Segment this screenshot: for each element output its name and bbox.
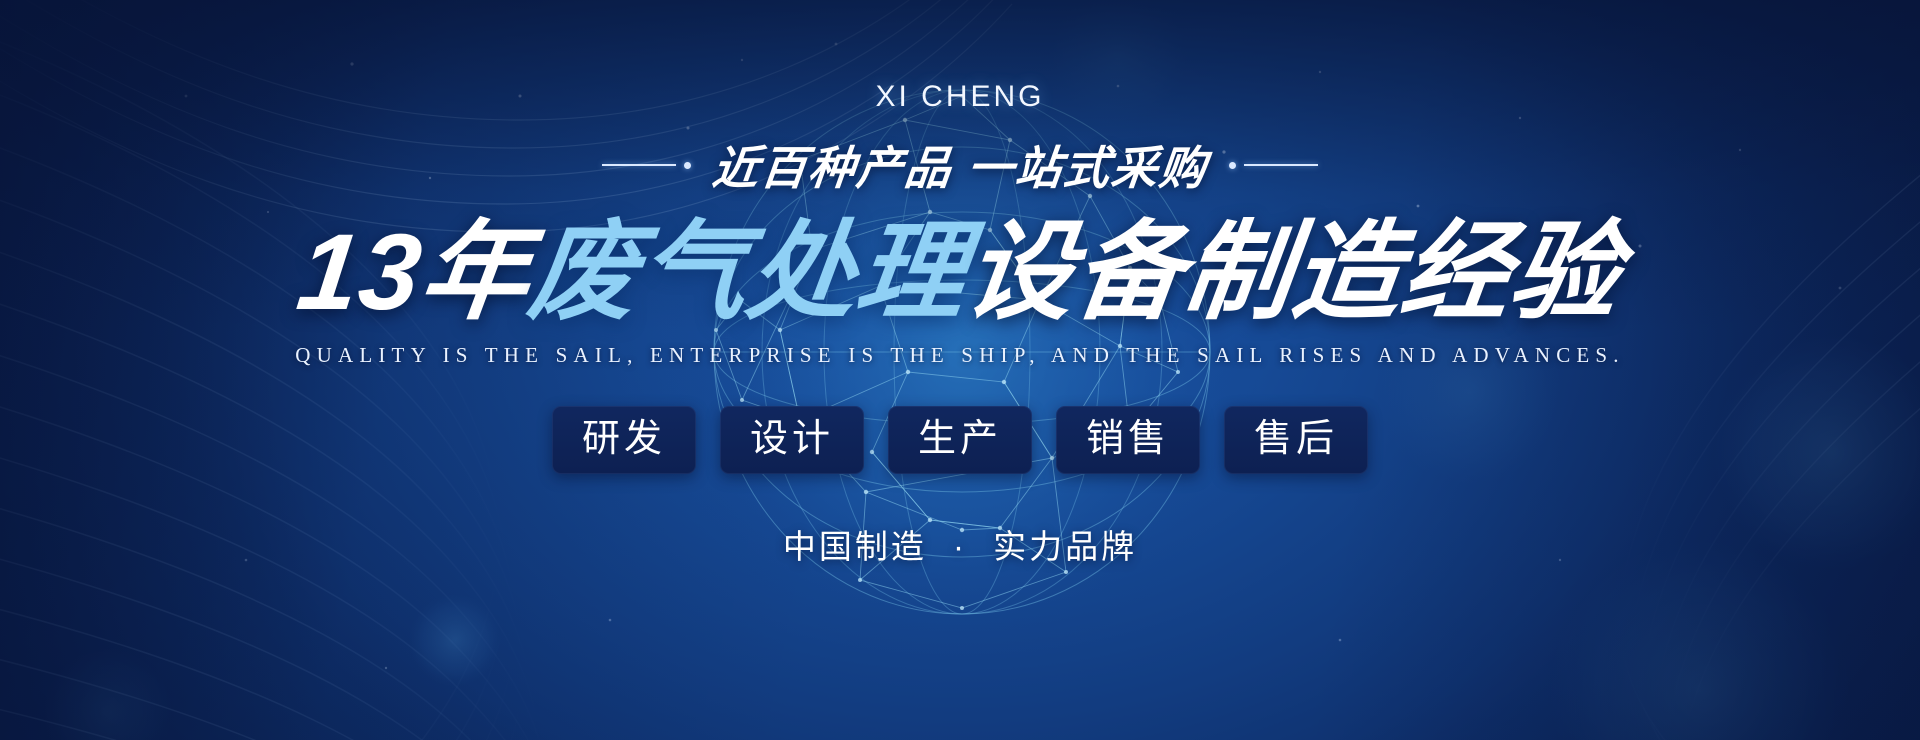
- decorative-line-icon: [602, 164, 676, 166]
- footer-slogan-right: 实力品牌: [993, 528, 1137, 565]
- service-pill-list: 研发 设计 生产 销售 售后: [552, 406, 1368, 475]
- decorative-rule-right: [1229, 162, 1318, 169]
- brand-name-en: XI CHENG: [875, 80, 1044, 114]
- decorative-rule-left: [602, 162, 691, 169]
- banner-headline: 13年废气处理设备制造经验: [292, 214, 1627, 331]
- service-pill[interactable]: 设计: [720, 406, 864, 475]
- footer-slogan-left: 中国制造: [783, 528, 927, 565]
- banner-tagline-en: QUALITY IS THE SAIL, ENTERPRISE IS THE S…: [295, 343, 1625, 368]
- headline-highlight: 废气处理: [523, 211, 974, 332]
- headline-years: 13年: [292, 211, 538, 332]
- decorative-dot-icon: [1229, 162, 1236, 169]
- banner-subtitle: 近百种产品 一站式采购: [709, 132, 1211, 198]
- service-pill[interactable]: 销售: [1056, 406, 1200, 475]
- footer-separator-icon: ·: [939, 528, 981, 565]
- decorative-dot-icon: [684, 162, 691, 169]
- hero-banner: XI CHENG 近百种产品 一站式采购 13年废气处理设备制造经验 QUALI…: [0, 0, 1920, 740]
- banner-content: XI CHENG 近百种产品 一站式采购 13年废气处理设备制造经验 QUALI…: [0, 0, 1920, 740]
- service-pill[interactable]: 研发: [552, 406, 696, 475]
- service-pill[interactable]: 售后: [1224, 406, 1368, 475]
- subtitle-row: 近百种产品 一站式采购: [602, 132, 1319, 198]
- headline-tail: 设备制造经验: [959, 211, 1628, 332]
- service-pill[interactable]: 生产: [888, 406, 1032, 475]
- banner-footer-slogan: 中国制造 · 实力品牌: [783, 520, 1137, 568]
- decorative-line-icon: [1244, 164, 1318, 166]
